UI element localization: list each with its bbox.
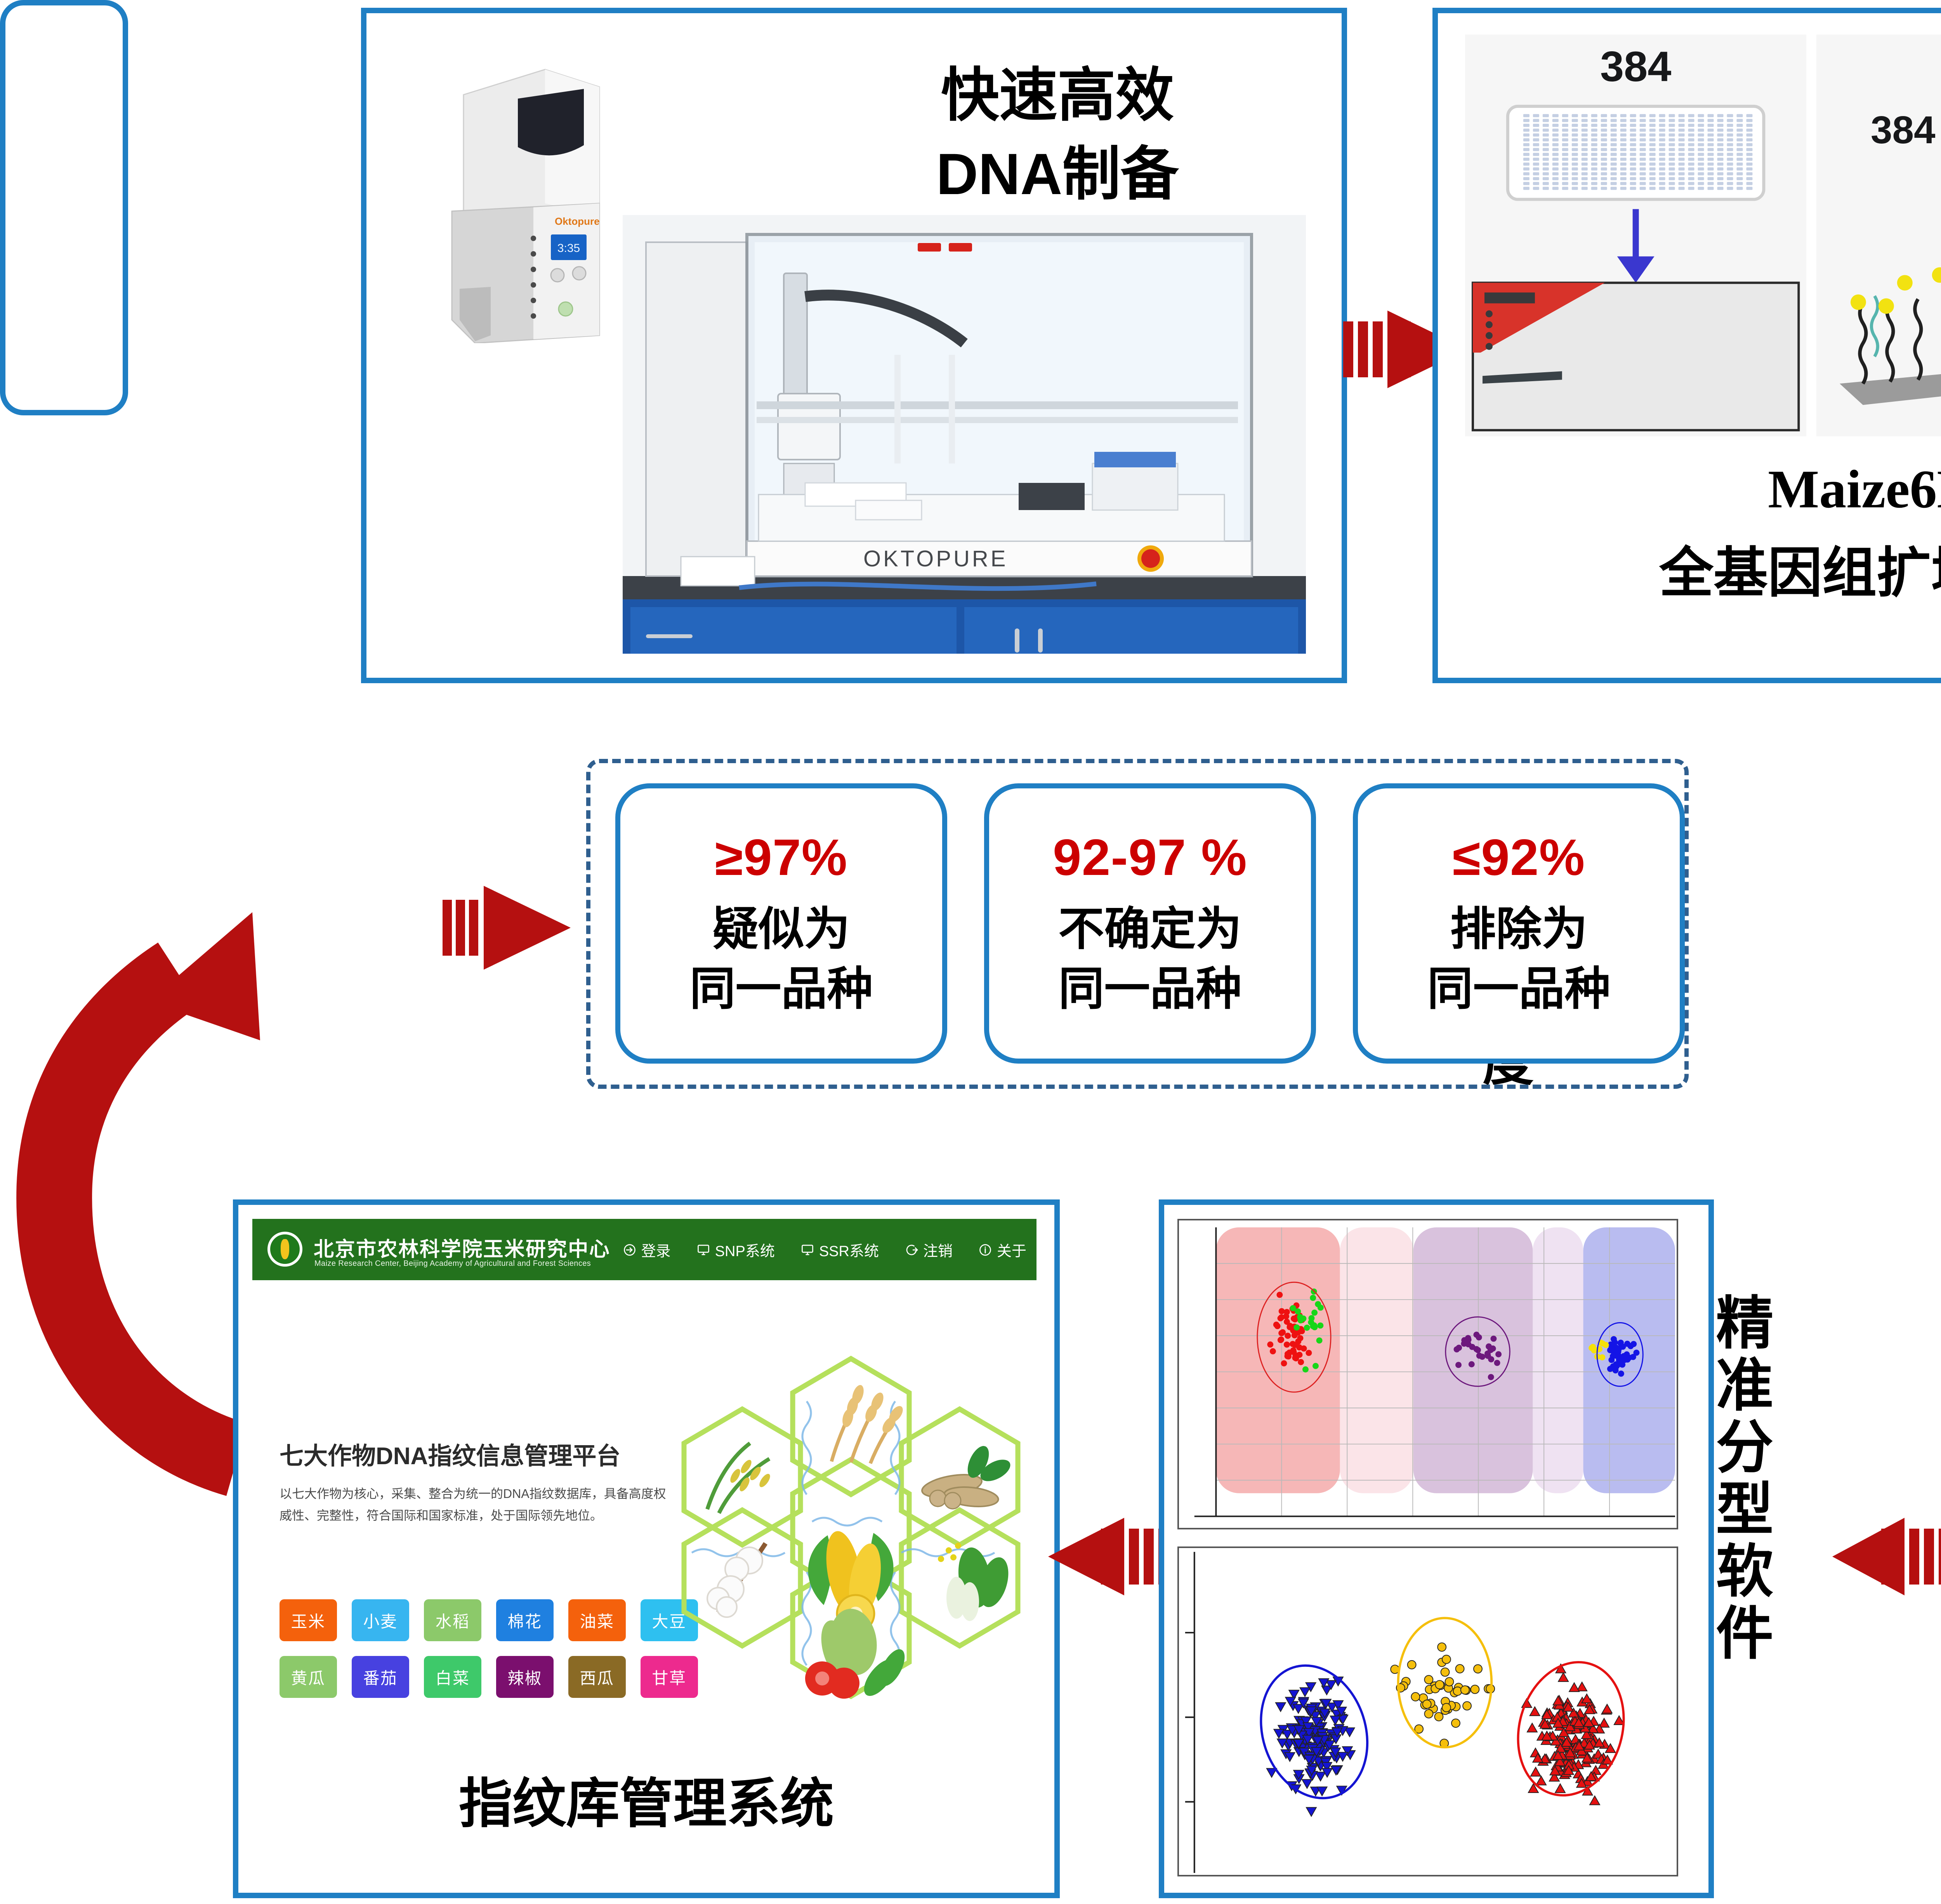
- similarity-card-high-line1: 疑似为: [712, 900, 850, 959]
- crop-tag-grid: 玉米 小麦 水稻 棉花 油菜 大豆 黄瓜 番茄 白菜 辣椒 西瓜 甘草: [280, 1599, 722, 1698]
- crop-tag-rice[interactable]: 水稻: [424, 1599, 481, 1641]
- similarity-card-low: ≤92% 排除为 同一品种: [1353, 783, 1685, 1064]
- crop-tag-maize[interactable]: 玉米: [280, 1599, 337, 1641]
- crop-hexagon-illustration: [676, 1335, 1026, 1731]
- similarity-card-high: ≥97% 疑似为 同一品种: [615, 783, 947, 1064]
- crop-tag-tomato[interactable]: 番茄: [352, 1656, 409, 1698]
- arrow-scan-to-software: [1832, 1479, 1941, 1634]
- crop-tag-watermelon[interactable]: 西瓜: [568, 1656, 626, 1698]
- nav-item-logout[interactable]: 注销: [905, 1239, 953, 1260]
- arrow-similarity-to-cards: [443, 850, 575, 1005]
- panel-genotyping-software: [1159, 1199, 1714, 1898]
- website-description: 以七大作物为核心，采集、整合为统一的DNA指纹数据库，具备高度权威性、完整性，符…: [280, 1483, 668, 1526]
- website-page-title: 七大作物DNA指纹信息管理平台: [280, 1436, 620, 1471]
- institute-logo-icon: [265, 1229, 305, 1269]
- similarity-axis-box: 位点相似度: [0, 0, 128, 415]
- similarity-card-mid: 92-97 % 不确定为 同一品种: [984, 783, 1316, 1064]
- website-screenshot: 北京市农林科学院玉米研究中心 Maize Research Center, Be…: [252, 1219, 1036, 1739]
- crop-tag-pepper[interactable]: 辣椒: [496, 1656, 554, 1698]
- workflow-diagram: Oktopure 3:35: [0, 0, 1941, 1904]
- similarity-card-low-threshold: ≤92%: [1453, 828, 1585, 887]
- institute-name-cn: 北京市农林科学院玉米研究中心: [314, 1233, 610, 1262]
- nav-item-snp-label: SNP系统: [715, 1239, 775, 1260]
- website-nav: 登录 SNP系统 SSR系统: [623, 1239, 1026, 1260]
- similarity-card-mid-line2: 同一品种: [1058, 960, 1241, 1019]
- crop-tag-cotton[interactable]: 棉花: [496, 1599, 554, 1641]
- nav-item-login-label: 登录: [641, 1239, 671, 1260]
- crop-tag-rapeseed[interactable]: 油菜: [568, 1599, 626, 1641]
- genotyping-software-label: 精准分型软件: [1708, 1293, 1770, 1793]
- pca-cluster-plot: [1177, 1546, 1678, 1876]
- similarity-card-mid-line1: 不确定为: [1058, 900, 1241, 959]
- cluster-band-plot: [1177, 1219, 1678, 1529]
- similarity-card-high-threshold: ≥97%: [715, 828, 848, 887]
- crop-tag-wheat[interactable]: 小麦: [352, 1599, 409, 1641]
- monitor-icon: [696, 1243, 710, 1257]
- crop-tag-cucumber[interactable]: 黄瓜: [280, 1656, 337, 1698]
- nav-item-ssr[interactable]: SSR系统: [800, 1239, 879, 1260]
- fingerprint-db-caption: 指纹库管理系统: [238, 1760, 1054, 1838]
- nav-item-about-label: 关于: [997, 1239, 1026, 1260]
- similarity-card-low-line1: 排除为: [1450, 900, 1587, 959]
- website-header: 北京市农林科学院玉米研究中心 Maize Research Center, Be…: [252, 1219, 1036, 1280]
- panel-fingerprint-database: 北京市农林科学院玉米研究中心 Maize Research Center, Be…: [233, 1199, 1060, 1898]
- crop-tag-cabbage[interactable]: 白菜: [424, 1656, 481, 1698]
- similarity-card-high-line2: 同一品种: [689, 960, 873, 1019]
- nav-item-about[interactable]: 关于: [978, 1239, 1026, 1260]
- nav-item-login[interactable]: 登录: [623, 1239, 671, 1260]
- arrow-software-to-db: [1048, 1479, 1168, 1634]
- nav-item-ssr-label: SSR系统: [819, 1239, 879, 1260]
- info-icon: [978, 1243, 992, 1257]
- monitor-icon: [800, 1243, 814, 1257]
- login-icon: [623, 1243, 637, 1257]
- logout-icon: [905, 1243, 918, 1257]
- nav-item-logout-label: 注销: [923, 1239, 953, 1260]
- nav-item-snp[interactable]: SNP系统: [696, 1239, 775, 1260]
- similarity-card-low-line2: 同一品种: [1427, 960, 1610, 1019]
- institute-name-en: Maize Research Center, Beijing Academy o…: [314, 1259, 591, 1268]
- similarity-card-mid-threshold: 92-97 %: [1053, 828, 1247, 887]
